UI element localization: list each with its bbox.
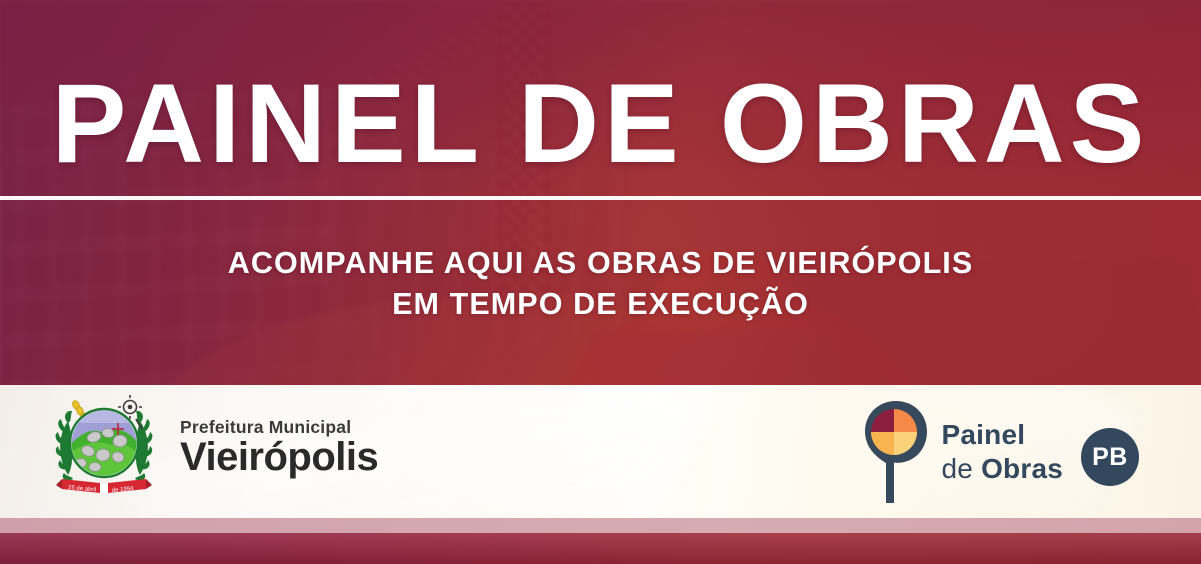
city-logo[interactable]: 25 de abril de 1994 Prefeitura Municipal…: [48, 393, 378, 501]
painel-line-2: de Obras: [942, 455, 1063, 483]
page-subtitle: ACOMPANHE AQUI AS OBRAS DE VIEIRÓPOLIS E…: [50, 243, 1151, 324]
crest-ribbon-right-text: de 1994: [112, 486, 135, 494]
painel-line-2-light: de: [942, 453, 982, 484]
page-title: PAINEL DE OBRAS: [0, 68, 1201, 180]
painel-de-obras-banner: PAINEL DE OBRAS ACOMPANHE AQUI AS OBRAS …: [0, 0, 1201, 564]
hero-section: PAINEL DE OBRAS ACOMPANHE AQUI AS OBRAS …: [0, 0, 1201, 385]
subtitle-line-2: EM TEMPO DE EXECUÇÃO: [392, 287, 809, 321]
city-name-label: Vieirópolis: [180, 436, 378, 478]
maroon-band: [0, 533, 1201, 564]
map-pin-icon: [864, 399, 928, 505]
crest-ribbon-left-text: 25 de abril: [68, 485, 96, 493]
city-name-block: Prefeitura Municipal Vieirópolis: [180, 417, 378, 478]
logo-bar: 25 de abril de 1994 Prefeitura Municipal…: [0, 385, 1201, 518]
subtitle-line-1: ACOMPANHE AQUI AS OBRAS DE VIEIRÓPOLIS: [228, 246, 974, 280]
title-divider: [0, 196, 1201, 200]
painel-line-2-bold: Obras: [981, 453, 1063, 484]
painel-de-obras-logo[interactable]: Painel de Obras PB: [864, 399, 1139, 505]
painel-line-1: Painel: [942, 421, 1063, 449]
vieiropolis-coat-of-arms-icon: 25 de abril de 1994: [48, 393, 160, 501]
pink-band: [0, 518, 1201, 533]
painel-text-block: Painel de Obras: [942, 421, 1063, 483]
pb-badge: PB: [1081, 428, 1139, 486]
